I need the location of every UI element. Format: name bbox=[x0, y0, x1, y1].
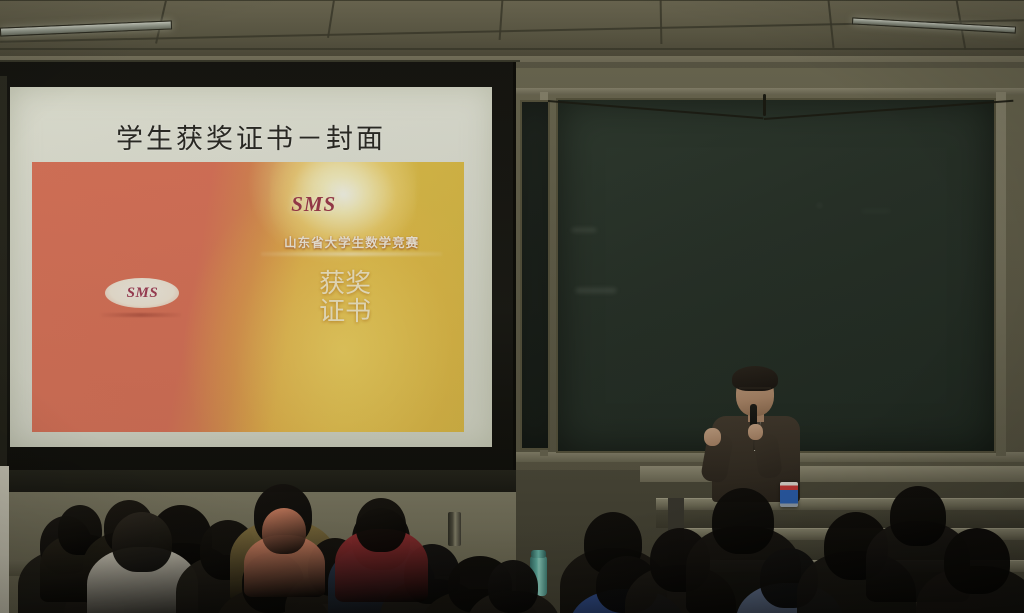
presenter-hand-right bbox=[748, 424, 763, 440]
ceiling bbox=[0, 0, 1024, 62]
lecture-hall-photo: 学生获奖证书－封面 SMS 山东省大学生数学竞赛 获奖证书 SMS bbox=[0, 0, 1024, 613]
attendee-19-head bbox=[712, 488, 774, 554]
bottle-cap bbox=[531, 550, 546, 558]
glasses-icon bbox=[739, 387, 771, 395]
attendee-6-head bbox=[112, 512, 172, 572]
certificate-calligraphy: 获奖证书 bbox=[317, 270, 373, 326]
chalkboard-top-rail bbox=[516, 88, 1024, 95]
attendee-12-head bbox=[262, 508, 306, 554]
projection-screen[interactable]: 学生获奖证书－封面 SMS 山东省大学生数学竞赛 获奖证书 SMS bbox=[10, 87, 492, 447]
sms-logo-left-text: SMS bbox=[127, 285, 159, 302]
sms-logo-oval: SMS bbox=[105, 278, 179, 308]
attendee-15-head bbox=[356, 498, 406, 552]
left-wall-edge bbox=[0, 76, 7, 468]
beverage-can bbox=[780, 482, 798, 507]
projection-screen-frame: 学生获奖证书－封面 SMS 山东省大学生数学竞赛 获奖证书 SMS bbox=[0, 62, 516, 474]
dark-thermos bbox=[448, 512, 461, 546]
attendee-23-head bbox=[944, 528, 1010, 594]
certificate-cover-image: SMS 山东省大学生数学竞赛 获奖证书 SMS bbox=[32, 162, 464, 432]
presenter bbox=[698, 362, 818, 502]
certificate-banner-underline bbox=[261, 252, 442, 256]
wire-hook-icon bbox=[763, 94, 766, 116]
left-edge-strip bbox=[0, 466, 9, 613]
attendee-24-head bbox=[488, 560, 538, 613]
chalkboard-panel-left bbox=[520, 100, 550, 450]
attendee-22-head bbox=[890, 486, 946, 546]
slide-title: 学生获奖证书－封面 bbox=[10, 117, 492, 156]
ceiling-light-fixture-left bbox=[0, 20, 172, 36]
certificate-banner-text: 山东省大学生数学竞赛 bbox=[257, 232, 447, 251]
presenter-hand-left bbox=[704, 428, 721, 446]
sms-logo-top: SMS bbox=[291, 192, 336, 217]
sms-logo-left-subtext bbox=[101, 313, 181, 317]
chalkboard-right-rail bbox=[996, 92, 1006, 456]
